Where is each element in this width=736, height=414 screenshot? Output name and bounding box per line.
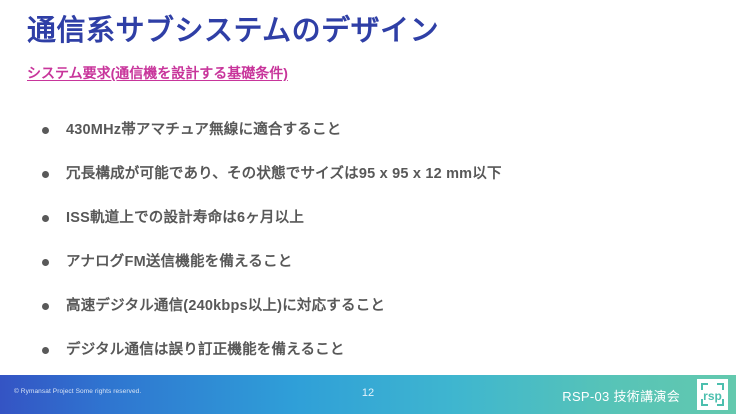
svg-text:rsp: rsp xyxy=(703,389,722,403)
list-item-label: 冗長構成が可能であり、その状態でサイズは95 x 95 x 12 mm以下 xyxy=(66,152,702,196)
list-item-label: アナログFM送信機能を備えること xyxy=(66,240,702,284)
rsp-logo-icon: rsp xyxy=(697,379,728,410)
rsp-logo: rsp xyxy=(697,379,728,410)
list-item-label: 430MHz帯アマチュア無線に適合すること xyxy=(66,108,702,152)
bullet-dot-icon xyxy=(42,303,49,310)
section-subtitle: システム要求(通信機を設計する基礎条件) xyxy=(27,65,288,82)
bullet-dot-icon xyxy=(42,347,49,354)
bullet-dot-icon xyxy=(42,171,49,178)
list-item: 高速デジタル通信(240kbps以上)に対応すること xyxy=(42,284,702,328)
bullet-dot-icon xyxy=(42,259,49,266)
list-item: 430MHz帯アマチュア無線に適合すること xyxy=(42,108,702,152)
list-item-label: デジタル通信は誤り訂正機能を備えること xyxy=(66,328,702,372)
list-item: 冗長構成が可能であり、その状態でサイズは95 x 95 x 12 mm以下 xyxy=(42,152,702,196)
list-item-label: 高速デジタル通信(240kbps以上)に対応すること xyxy=(66,284,702,328)
bullet-dot-icon xyxy=(42,127,49,134)
page-title: 通信系サブシステムのデザイン xyxy=(27,16,439,48)
event-name: RSP-03 技術講演会 xyxy=(562,386,680,405)
list-item: アナログFM送信機能を備えること xyxy=(42,240,702,284)
list-item: デジタル通信は誤り訂正機能を備えること xyxy=(42,328,702,372)
requirements-list: 430MHz帯アマチュア無線に適合すること 冗長構成が可能であり、その状態でサイ… xyxy=(42,108,702,372)
list-item-label: ISS軌道上での設計寿命は6ヶ月以上 xyxy=(66,196,702,240)
bullet-dot-icon xyxy=(42,215,49,222)
slide-footer: © Rymansat Project Some rights reserved.… xyxy=(0,375,736,414)
slide: 通信系サブシステムのデザイン システム要求(通信機を設計する基礎条件) 430M… xyxy=(0,0,736,414)
list-item: ISS軌道上での設計寿命は6ヶ月以上 xyxy=(42,196,702,240)
